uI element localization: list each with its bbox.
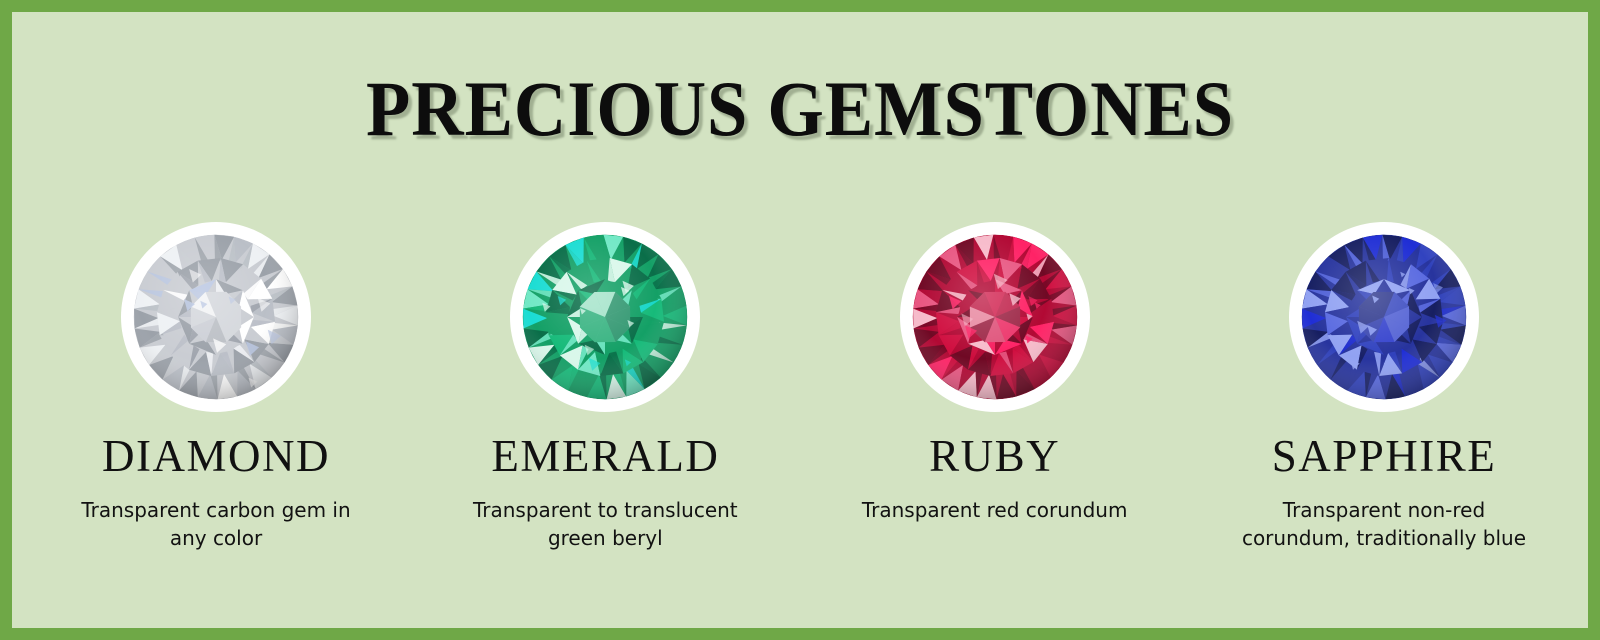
- gem-description-sapphire: Transparent non-red corundum, traditiona…: [1234, 497, 1534, 552]
- gem-description-ruby: Transparent red corundum: [862, 497, 1128, 525]
- gem-name-sapphire: SAPPHIRE: [1272, 434, 1497, 479]
- gem-image-ring-emerald: [510, 222, 700, 412]
- gem-image-ring-sapphire: [1289, 222, 1479, 412]
- emerald-gem-icon: [521, 233, 689, 401]
- gem-name-emerald: EMERALD: [491, 434, 719, 479]
- gem-card-list: DIAMOND Transparent carbon gem in any co…: [12, 222, 1588, 552]
- gem-name-diamond: DIAMOND: [102, 434, 330, 479]
- gem-image-ring-diamond: [121, 222, 311, 412]
- gem-card-ruby: RUBY Transparent red corundum: [819, 222, 1171, 525]
- page-title: PRECIOUS GEMSTONES: [67, 64, 1533, 154]
- gem-name-ruby: RUBY: [929, 434, 1060, 479]
- gem-image-ring-ruby: [900, 222, 1090, 412]
- gem-description-emerald: Transparent to translucent green beryl: [455, 497, 755, 552]
- gem-card-emerald: EMERALD Transparent to translucent green…: [429, 222, 781, 552]
- precious-gemstones-poster: PRECIOUS GEMSTONES DIAMOND Transparent c…: [0, 0, 1600, 640]
- sapphire-gem-icon: [1300, 233, 1468, 401]
- gem-card-diamond: DIAMOND Transparent carbon gem in any co…: [40, 222, 392, 552]
- gem-card-sapphire: SAPPHIRE Transparent non-red corundum, t…: [1208, 222, 1560, 552]
- ruby-gem-icon: [911, 233, 1079, 401]
- gem-description-diamond: Transparent carbon gem in any color: [66, 497, 366, 552]
- diamond-gem-icon: [132, 233, 300, 401]
